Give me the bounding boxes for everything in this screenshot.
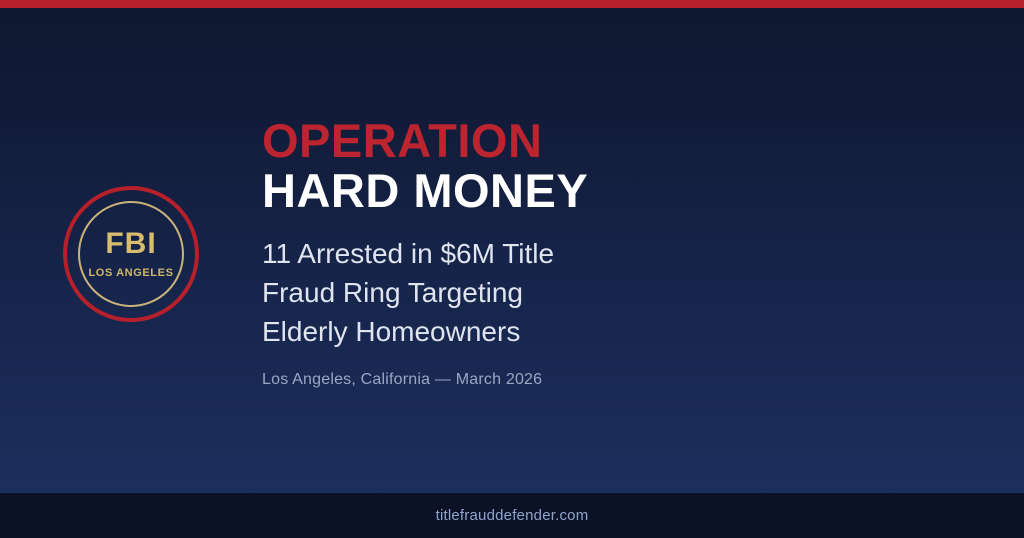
seal-text: FBI LOS ANGELES bbox=[88, 229, 173, 279]
title-slide: FBI LOS ANGELES OPERATION HARD MONEY 11 … bbox=[0, 0, 1024, 538]
subheadline-line-3: Elderly Homeowners bbox=[262, 316, 520, 347]
seal-agency-label: FBI bbox=[88, 229, 173, 259]
headline-operation: OPERATION bbox=[262, 116, 984, 166]
subheadline: 11 Arrested in $6M Title Fraud Ring Targ… bbox=[262, 235, 592, 351]
seal-field-office-label: LOS ANGELES bbox=[88, 268, 173, 279]
fbi-seal-icon: FBI LOS ANGELES bbox=[63, 186, 199, 322]
text-column: OPERATION HARD MONEY 11 Arrested in $6M … bbox=[262, 112, 1024, 390]
top-accent-stripe bbox=[0, 0, 1024, 8]
dateline: Los Angeles, California — March 2026 bbox=[262, 371, 984, 389]
subheadline-line-1: 11 Arrested in $6M Title bbox=[262, 238, 554, 269]
slide-content: FBI LOS ANGELES OPERATION HARD MONEY 11 … bbox=[0, 8, 1024, 493]
footer-website-url[interactable]: titlefrauddefender.com bbox=[436, 507, 589, 524]
seal-container: FBI LOS ANGELES bbox=[0, 180, 262, 322]
headline-codename: HARD MONEY bbox=[262, 166, 984, 216]
subheadline-line-2: Fraud Ring Targeting bbox=[262, 277, 523, 308]
footer-bar: titlefrauddefender.com bbox=[0, 493, 1024, 538]
